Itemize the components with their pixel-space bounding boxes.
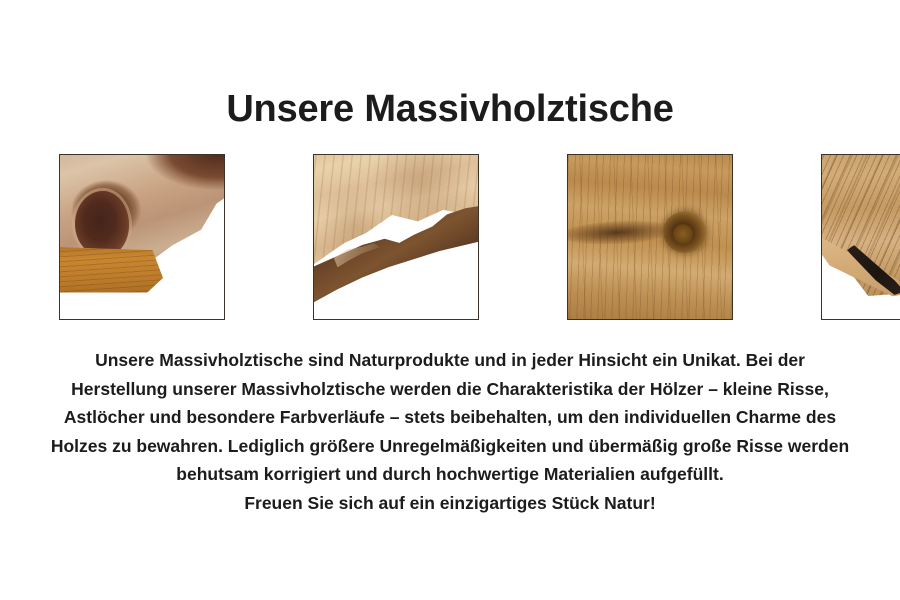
knot-core-icon	[673, 224, 693, 244]
edge-grain-lines-icon	[60, 247, 181, 303]
page-root: Unsere Massivholztische	[0, 0, 900, 600]
body-closing-line: Freuen Sie sich auf ein einzigartiges St…	[50, 489, 850, 518]
photo-canvas-1	[60, 155, 224, 319]
image-gallery	[19, 138, 881, 304]
slab-edge-band-icon	[60, 247, 181, 303]
burl-knot-icon	[75, 191, 129, 257]
photo-canvas-2	[314, 155, 478, 319]
gallery-image-wood-slab-corner-with-burl-knot[interactable]	[59, 154, 225, 320]
gallery-image-rough-sawn-board-with-crack[interactable]	[821, 154, 900, 320]
gallery-image-wood-grain-closeup-with-knot[interactable]	[567, 154, 733, 320]
body-copy: Unsere Massivholztische sind Naturproduk…	[50, 346, 850, 518]
body-paragraph: Unsere Massivholztische sind Naturproduk…	[50, 346, 850, 489]
photo-canvas-4	[822, 155, 900, 319]
page-title: Unsere Massivholztische	[0, 88, 900, 132]
gallery-image-light-slab-with-dark-live-edge[interactable]	[313, 154, 479, 320]
photo-canvas-3	[568, 155, 732, 319]
